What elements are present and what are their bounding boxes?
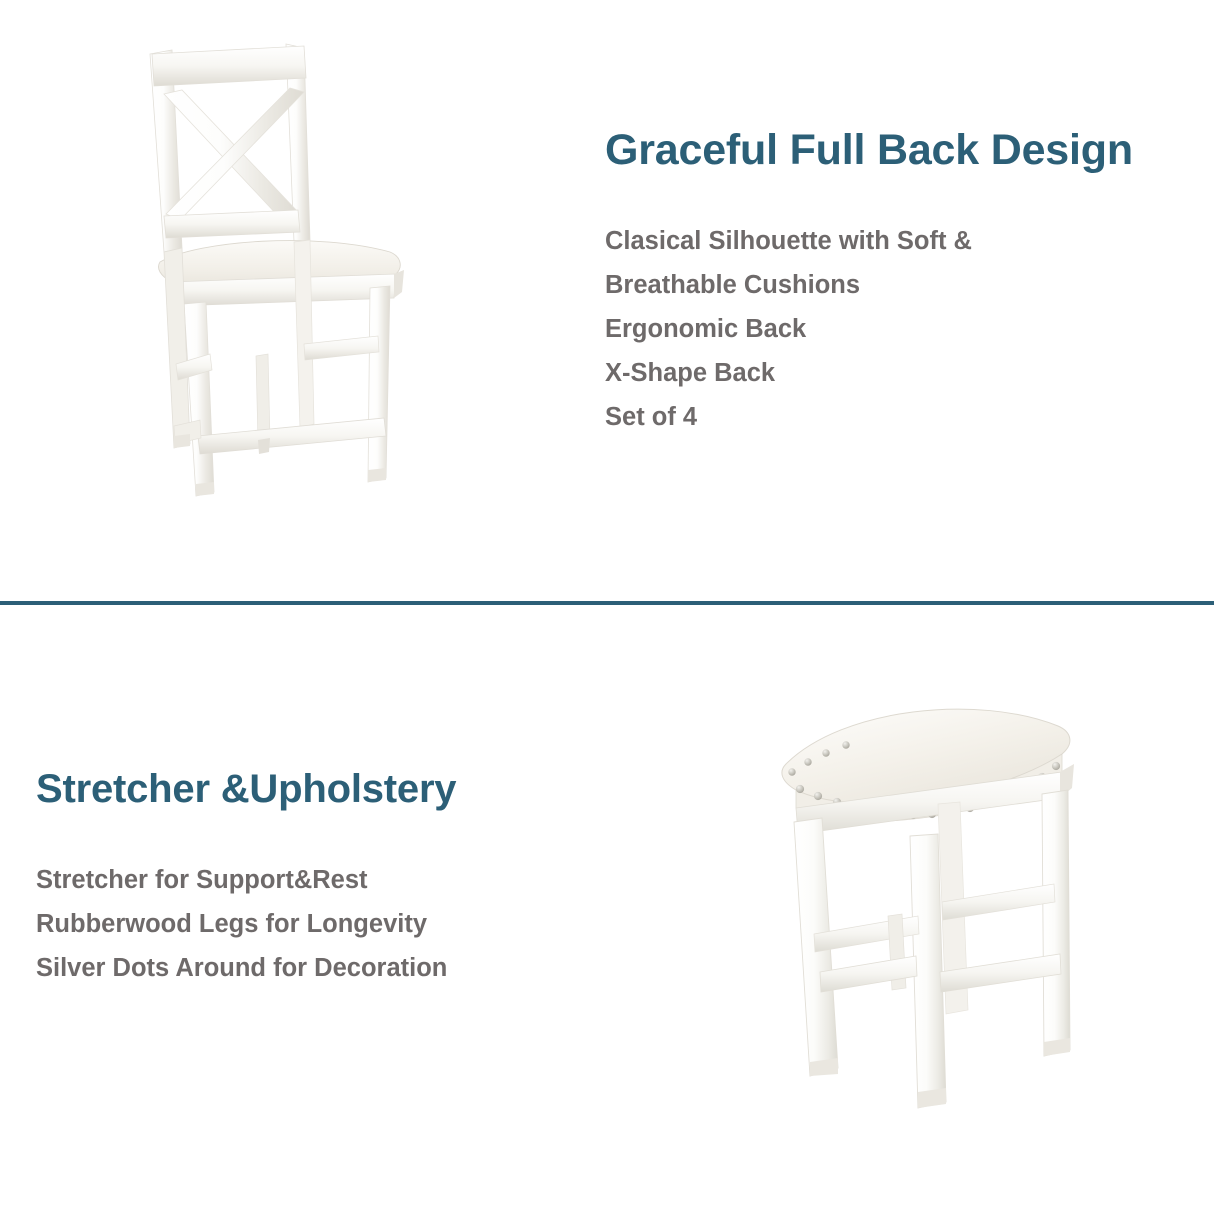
top-feature-list: Clasical Silhouette with Soft & Breathab… — [605, 219, 1214, 439]
bottom-section-heading: Stretcher &Upholstery — [36, 768, 636, 810]
product-feature-page: Graceful Full Back Design Clasical Silho… — [0, 0, 1214, 1214]
bottom-text-block: Stretcher &Upholstery Stretcher for Supp… — [36, 768, 636, 990]
top-section-heading: Graceful Full Back Design — [605, 128, 1214, 173]
feature-line: Breathable Cushions — [605, 263, 1214, 307]
feature-line: Clasical Silhouette with Soft & — [605, 219, 1214, 263]
feature-line: Rubberwood Legs for Longevity — [36, 902, 636, 946]
feature-line: Silver Dots Around for Decoration — [36, 946, 636, 990]
feature-line: Set of 4 — [605, 395, 1214, 439]
bottom-feature-list: Stretcher for Support&Rest Rubberwood Le… — [36, 858, 636, 990]
feature-line: X-Shape Back — [605, 351, 1214, 395]
section-divider — [0, 601, 1214, 605]
stool-image — [742, 672, 1094, 1124]
top-text-block: Graceful Full Back Design Clasical Silho… — [605, 128, 1214, 439]
feature-line: Ergonomic Back — [605, 307, 1214, 351]
feature-line: Stretcher for Support&Rest — [36, 858, 636, 902]
chair-image — [138, 26, 438, 526]
